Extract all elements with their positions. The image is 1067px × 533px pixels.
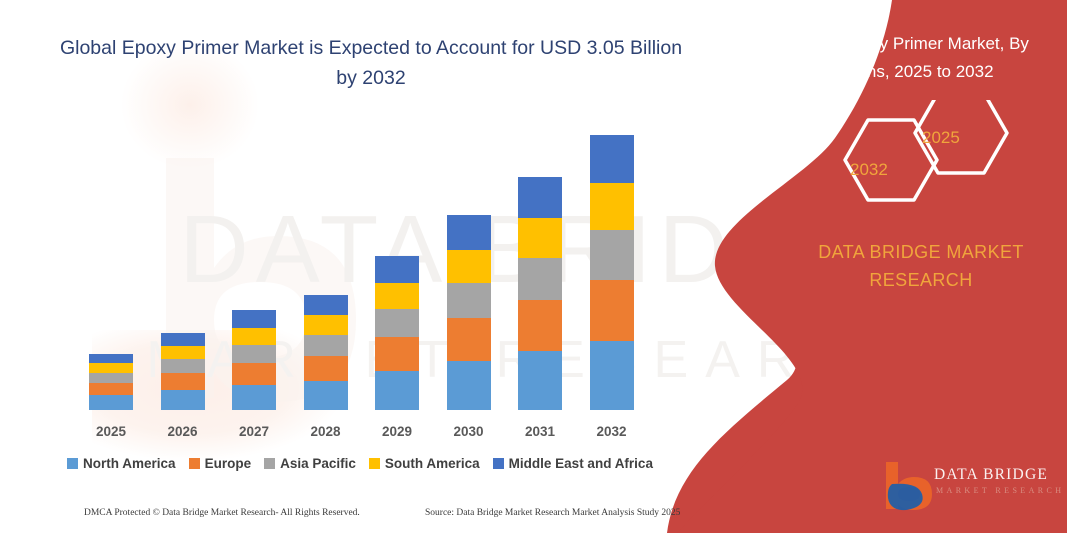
bar-segment xyxy=(375,371,419,410)
bar-segment xyxy=(304,335,348,356)
bar-segment xyxy=(232,328,276,345)
bar-segment xyxy=(375,309,419,337)
legend-label: Middle East and Africa xyxy=(509,456,653,471)
x-axis-tick: 2030 xyxy=(434,424,504,439)
bar-2031 xyxy=(518,177,562,410)
bar-segment xyxy=(232,345,276,363)
bar-segment xyxy=(375,337,419,371)
corner-logo-name: DATA BRIDGE xyxy=(934,466,1048,484)
bar-segment xyxy=(304,356,348,381)
bar-segment xyxy=(590,230,634,280)
panel-brand-text: DATA BRIDGE MARKET RESEARCH xyxy=(790,238,1052,294)
bar-2026 xyxy=(161,333,205,410)
x-axis-tick: 2025 xyxy=(76,424,146,439)
bar-segment xyxy=(590,183,634,230)
bar-segment xyxy=(447,283,491,318)
hexagon-label-end: 2032 xyxy=(850,160,888,180)
bar-segment xyxy=(518,258,562,300)
bar-segment xyxy=(375,283,419,309)
chart-legend: North AmericaEuropeAsia PacificSouth Ame… xyxy=(0,456,720,471)
bar-segment xyxy=(89,363,133,373)
bar-2025 xyxy=(89,354,133,410)
legend-item[interactable]: Europe xyxy=(189,456,252,471)
x-axis-tick: 2029 xyxy=(362,424,432,439)
bar-segment xyxy=(161,359,205,373)
bar-segment xyxy=(161,346,205,359)
legend-swatch-icon xyxy=(67,458,78,469)
bar-segment xyxy=(304,315,348,335)
corner-logo-tagline: MARKET RESEARCH xyxy=(936,486,1064,495)
x-axis-tick: 2032 xyxy=(577,424,647,439)
bar-segment xyxy=(518,300,562,351)
bar-2028 xyxy=(304,295,348,410)
x-axis-tick: 2027 xyxy=(219,424,289,439)
bar-segment xyxy=(304,295,348,315)
bar-segment xyxy=(89,354,133,363)
x-axis-tick: 2031 xyxy=(505,424,575,439)
x-axis-tick: 2028 xyxy=(291,424,361,439)
legend-swatch-icon xyxy=(189,458,200,469)
stacked-bar-chart: 20252026202720282029203020312032 North A… xyxy=(0,0,720,533)
bar-segment xyxy=(590,280,634,341)
bar-segment xyxy=(518,177,562,218)
footer-source: Source: Data Bridge Market Research Mark… xyxy=(425,508,680,518)
bar-2029 xyxy=(375,256,419,410)
bar-2030 xyxy=(447,215,491,410)
bar-2032 xyxy=(590,135,634,410)
bar-segment xyxy=(161,333,205,346)
bar-segment xyxy=(232,363,276,385)
bar-segment xyxy=(89,373,133,383)
hexagon-badge-group: 2025 2032 xyxy=(820,100,1020,220)
bar-segment xyxy=(518,218,562,258)
legend-item[interactable]: Asia Pacific xyxy=(264,456,356,471)
footer-copyright: DMCA Protected © Data Bridge Market Rese… xyxy=(84,508,360,518)
legend-item[interactable]: Middle East and Africa xyxy=(493,456,653,471)
bar-segment xyxy=(447,250,491,283)
legend-swatch-icon xyxy=(493,458,504,469)
legend-label: South America xyxy=(385,456,480,471)
bar-segment xyxy=(304,381,348,410)
bar-segment xyxy=(161,373,205,390)
x-axis-labels: 20252026202720282029203020312032 xyxy=(0,424,720,444)
legend-swatch-icon xyxy=(369,458,380,469)
bar-segment xyxy=(447,215,491,250)
bar-segment xyxy=(590,341,634,410)
bar-segment xyxy=(447,318,491,361)
legend-item[interactable]: North America xyxy=(67,456,176,471)
bar-segment xyxy=(232,385,276,410)
bar-segment xyxy=(161,390,205,410)
bar-segment xyxy=(375,256,419,283)
bar-segment xyxy=(232,310,276,328)
bar-segment xyxy=(89,383,133,395)
legend-label: North America xyxy=(83,456,176,471)
bar-segment xyxy=(89,395,133,410)
bar-segment xyxy=(590,135,634,183)
corner-logo: DATA BRIDGE MARKET RESEARCH xyxy=(878,460,1058,512)
bar-segment xyxy=(518,351,562,410)
hexagon-label-start: 2025 xyxy=(922,128,960,148)
bar-2027 xyxy=(232,310,276,410)
bar-segment xyxy=(447,361,491,410)
x-axis-tick: 2026 xyxy=(148,424,218,439)
legend-label: Asia Pacific xyxy=(280,456,356,471)
legend-swatch-icon xyxy=(264,458,275,469)
legend-item[interactable]: South America xyxy=(369,456,480,471)
footer: DMCA Protected © Data Bridge Market Rese… xyxy=(0,508,700,528)
legend-label: Europe xyxy=(205,456,252,471)
panel-title: Global Epoxy Primer Market, By Regions, … xyxy=(762,30,1054,86)
infographic-canvas: DATA BRIDGE MARKET RESEARCH Global Epoxy… xyxy=(0,0,1067,533)
